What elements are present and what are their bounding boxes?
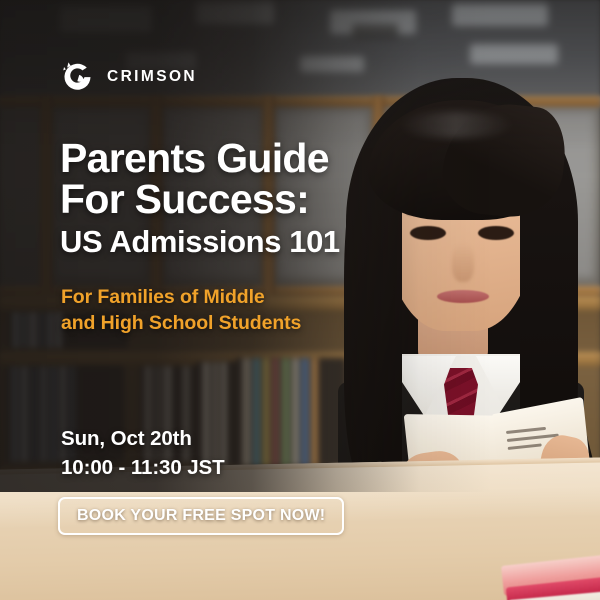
- audience-line-1: For Families of Middle: [61, 286, 265, 308]
- event-time: 10:00 - 11:30 JST: [61, 453, 225, 482]
- event-datetime: Sun, Oct 20th 10:00 - 11:30 JST: [61, 424, 225, 482]
- event-date: Sun, Oct 20th: [61, 427, 192, 450]
- poster-content: CRIMSON Parents Guide For Success: US Ad…: [0, 0, 600, 600]
- event-promo-poster: CRIMSON Parents Guide For Success: US Ad…: [0, 0, 600, 600]
- audience-text: For Families of Middle and High School S…: [61, 285, 301, 337]
- headline-line-1: Parents Guide: [60, 135, 329, 181]
- subheadline: US Admissions 101: [60, 226, 340, 257]
- book-spot-button[interactable]: BOOK YOUR FREE SPOT NOW!: [58, 497, 344, 535]
- brand-name: CRIMSON: [107, 68, 197, 86]
- brand-logo[interactable]: CRIMSON: [58, 57, 197, 97]
- page-title: Parents Guide For Success:: [60, 138, 329, 219]
- audience-line-2: and High School Students: [61, 311, 301, 337]
- headline-line-2: For Success:: [60, 179, 329, 220]
- crimson-c-logo-icon: [58, 57, 98, 97]
